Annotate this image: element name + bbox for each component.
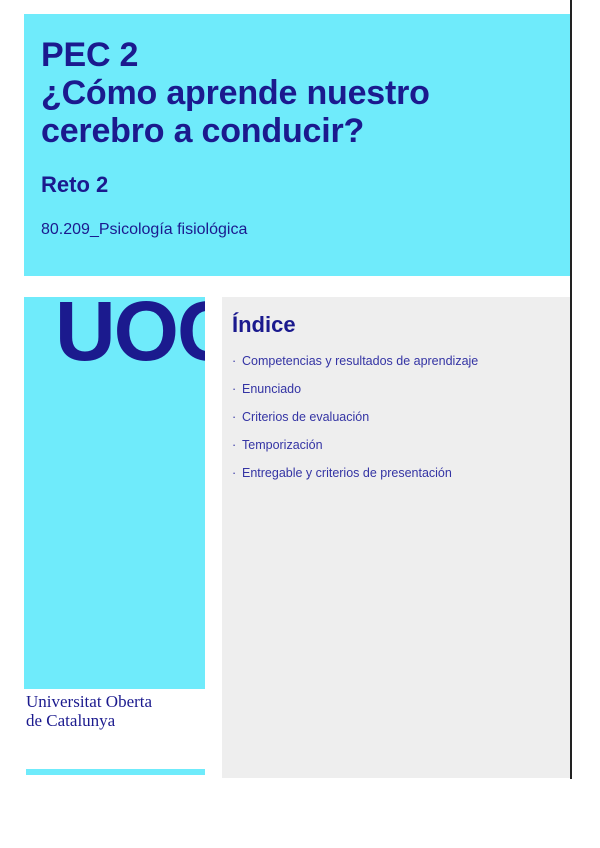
index-heading: Índice (232, 312, 552, 338)
list-item-label: Entregable y criterios de presentación (242, 466, 452, 480)
course-code-label: 80.209_Psicología fisiológica (41, 220, 550, 240)
title-banner: PEC 2 ¿Cómo aprende nuestro cerebro a co… (24, 14, 570, 276)
list-item-label: Enunciado (242, 382, 301, 396)
list-item-label: Criterios de evaluación (242, 410, 369, 424)
bullet-icon: · (232, 382, 236, 397)
index-list: · Competencias y resultados de aprendiza… (232, 354, 552, 481)
bullet-icon: · (232, 438, 236, 453)
list-item: · Competencias y resultados de aprendiza… (232, 354, 552, 369)
bullet-icon: · (232, 466, 236, 481)
page-title: PEC 2 ¿Cómo aprende nuestro cerebro a co… (41, 36, 550, 150)
uoc-logo-icon: UOC (55, 297, 205, 378)
challenge-subtitle: Reto 2 (41, 172, 550, 198)
list-item-label: Temporización (242, 438, 323, 452)
list-item-label: Competencias y resultados de aprendizaje (242, 354, 478, 368)
list-item: · Temporización (232, 438, 552, 453)
index-panel: Índice · Competencias y resultados de ap… (222, 297, 570, 778)
logo-underline-bar (26, 769, 205, 775)
bullet-icon: · (232, 410, 236, 425)
list-item: · Enunciado (232, 382, 552, 397)
slide-canvas: PEC 2 ¿Cómo aprende nuestro cerebro a co… (0, 0, 600, 848)
list-item: · Criterios de evaluación (232, 410, 552, 425)
page-right-rule (570, 0, 572, 779)
bullet-icon: · (232, 354, 236, 369)
list-item: · Entregable y criterios de presentación (232, 466, 552, 481)
uoc-logo-panel: UOC (24, 297, 205, 689)
university-name: Universitat Oberta de Catalunya (26, 692, 226, 730)
